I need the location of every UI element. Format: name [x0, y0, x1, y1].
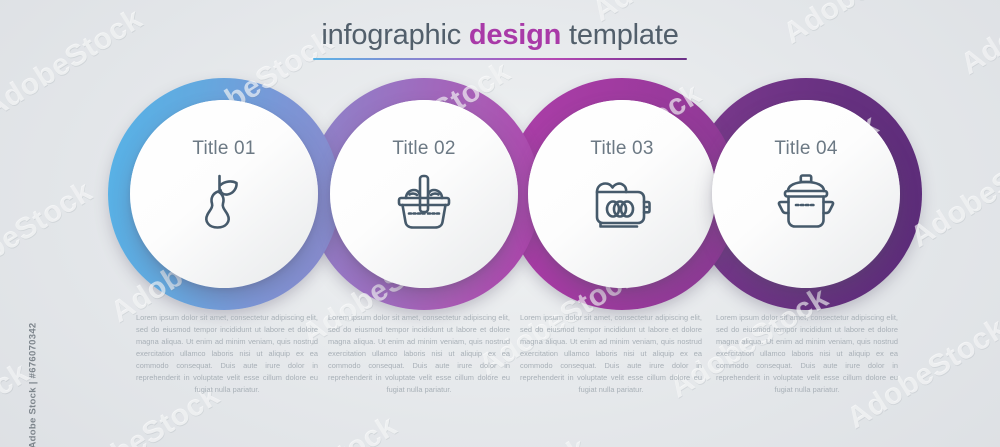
picnic-basket-icon: [387, 169, 461, 233]
watermark-text: AdobeStock: [423, 431, 594, 447]
description-row: Lorem ipsum dolor sit amet, consectetur …: [0, 312, 1000, 422]
step-description-3: Lorem ipsum dolor sit amet, consectetur …: [520, 312, 702, 396]
stock-credit-label: Adobe Stock | #676070342: [28, 301, 39, 447]
title-bold-word: design: [469, 19, 561, 51]
pear-icon: [187, 169, 261, 233]
step-title-2: Title 02: [392, 138, 455, 160]
infographic-canvas: Title 01 Title 02 Title 03: [0, 0, 1000, 447]
step-card-3[interactable]: Title 03: [528, 100, 716, 288]
header: infographic design template: [0, 20, 1000, 60]
step-title-1: Title 01: [192, 138, 255, 160]
page-title: infographic design template: [0, 20, 1000, 50]
step-title-4: Title 04: [774, 138, 837, 160]
step-description-2: Lorem ipsum dolor sit amet, consectetur …: [328, 312, 510, 396]
title-part-2: template: [561, 19, 679, 51]
step-title-3: Title 03: [590, 138, 653, 160]
step-card-1[interactable]: Title 01: [130, 100, 318, 288]
step-description-4: Lorem ipsum dolor sit amet, consectetur …: [716, 312, 898, 396]
step-card-2[interactable]: Title 02: [330, 100, 518, 288]
step-description-1: Lorem ipsum dolor sit amet, consectetur …: [136, 312, 318, 396]
title-underline-rule: [313, 58, 687, 60]
step-card-4[interactable]: Title 04: [712, 100, 900, 288]
cooking-pot-icon: [769, 169, 843, 233]
wallet-with-coins-icon: [585, 169, 659, 233]
title-part-1: infographic: [321, 19, 469, 51]
